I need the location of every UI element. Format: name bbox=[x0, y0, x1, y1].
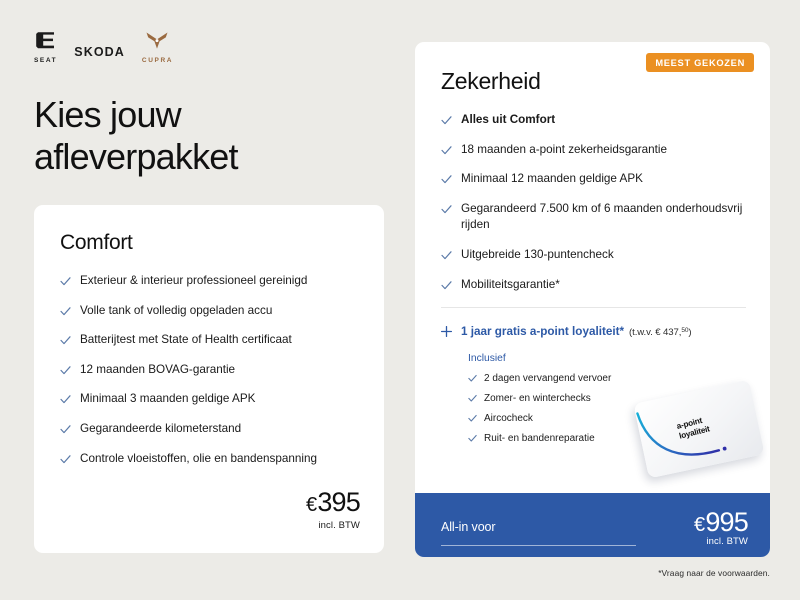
section-divider bbox=[441, 307, 746, 308]
check-icon bbox=[468, 414, 477, 423]
list-item-label: Exterieur & interieur professioneel gere… bbox=[80, 273, 360, 290]
loyalty-value-suffix: ) bbox=[688, 327, 691, 338]
check-icon bbox=[60, 454, 71, 465]
list-item: Minimaal 12 maanden geldige APK bbox=[441, 171, 748, 188]
skoda-logo-wordmark: SKODA bbox=[74, 45, 125, 59]
check-icon bbox=[60, 365, 71, 376]
cupra-logo-icon bbox=[145, 31, 169, 55]
page-title: Kies jouw afleverpakket bbox=[34, 94, 382, 179]
list-item-label: Ruit- en bandenreparatie bbox=[484, 432, 595, 445]
check-icon bbox=[60, 306, 71, 317]
cupra-logo-wordmark: CUPRA bbox=[142, 57, 173, 64]
status-badge: MEEST GEKOZEN bbox=[646, 53, 754, 72]
loyalty-headline: 1 jaar gratis a-point loyaliteit*(t.w.v.… bbox=[461, 322, 691, 340]
list-item: Batterijtest met State of Health certifi… bbox=[60, 332, 360, 349]
footer-row: All-in voor €995 bbox=[441, 493, 748, 536]
check-icon bbox=[441, 145, 452, 156]
brand-logo-row: SEAT SKODA CUPRA bbox=[34, 30, 382, 64]
zekerheid-price-note: incl. BTW bbox=[706, 536, 748, 547]
loyalty-value: (t.w.v. € 437,50) bbox=[629, 327, 691, 338]
check-icon bbox=[441, 204, 452, 215]
zekerheid-body: Zekerheid Alles uit Comfort 18 maanden a… bbox=[415, 42, 770, 445]
list-item-label: 2 dagen vervangend vervoer bbox=[484, 372, 611, 385]
check-icon bbox=[441, 115, 452, 126]
check-icon bbox=[60, 424, 71, 435]
seat-logo-wordmark: SEAT bbox=[34, 57, 57, 64]
list-item-label: Alles uit Comfort bbox=[461, 112, 748, 129]
page-title-line2: afleverpakket bbox=[34, 136, 238, 177]
currency-symbol: € bbox=[694, 514, 704, 536]
list-item-label: Aircocheck bbox=[484, 412, 533, 425]
list-item-label: Zomer- en winterchecks bbox=[484, 392, 591, 405]
check-icon bbox=[468, 374, 477, 383]
list-item-label: Gegarandeerde kilometerstand bbox=[80, 421, 360, 438]
plus-icon bbox=[441, 324, 452, 337]
list-item-label: Gegarandeerd 7.500 km of 6 maanden onder… bbox=[461, 201, 748, 234]
list-item: 2 dagen vervangend vervoer bbox=[468, 372, 748, 385]
comfort-card-title: Comfort bbox=[60, 231, 360, 255]
check-icon bbox=[60, 276, 71, 287]
list-item: Mobiliteitsgarantie* bbox=[441, 277, 748, 294]
page-title-line1: Kies jouw bbox=[34, 94, 181, 135]
list-item: Exterieur & interieur professioneel gere… bbox=[60, 273, 360, 290]
list-item: Gegarandeerde kilometerstand bbox=[60, 421, 360, 438]
package-card-zekerheid[interactable]: MEEST GEKOZEN Zekerheid Alles uit Comfor… bbox=[415, 42, 770, 557]
list-item: Alles uit Comfort bbox=[441, 112, 748, 129]
brand-seat: SEAT bbox=[34, 31, 57, 64]
list-item-label: Uitgebreide 130-puntencheck bbox=[461, 247, 748, 264]
list-item: 18 maanden a-point zekerheidsgarantie bbox=[441, 142, 748, 159]
comfort-feature-list: Exterieur & interieur professioneel gere… bbox=[60, 273, 360, 467]
list-item-label: Volle tank of volledig opgeladen accu bbox=[80, 303, 360, 320]
footer-rule bbox=[441, 545, 636, 546]
list-item: 12 maanden BOVAG-garantie bbox=[60, 362, 360, 379]
left-column: SEAT SKODA CUPRA Kies jouw afleverpakket… bbox=[0, 0, 400, 600]
list-item: Gegarandeerd 7.500 km of 6 maanden onder… bbox=[441, 201, 748, 234]
list-item: Minimaal 3 maanden geldige APK bbox=[60, 391, 360, 408]
zekerheid-price-footer: All-in voor €995 incl. BTW bbox=[415, 493, 770, 557]
comfort-price: €395 bbox=[306, 489, 360, 516]
list-item-label: Mobiliteitsgarantie* bbox=[461, 277, 748, 294]
check-icon bbox=[441, 174, 452, 185]
check-icon bbox=[468, 394, 477, 403]
list-item: Volle tank of volledig opgeladen accu bbox=[60, 303, 360, 320]
comfort-price-note: incl. BTW bbox=[306, 520, 360, 531]
check-icon bbox=[60, 394, 71, 405]
loyalty-title: 1 jaar gratis a-point loyaliteit* bbox=[461, 325, 624, 338]
loyalty-value-prefix: (t.w.v. € 437, bbox=[629, 327, 681, 338]
loyalty-headline-row: 1 jaar gratis a-point loyaliteit*(t.w.v.… bbox=[441, 322, 748, 340]
brand-cupra: CUPRA bbox=[142, 31, 173, 64]
check-icon bbox=[60, 335, 71, 346]
zekerheid-price: €995 bbox=[694, 509, 748, 536]
check-icon bbox=[441, 250, 452, 261]
check-icon bbox=[441, 280, 452, 291]
zekerheid-feature-list: Alles uit Comfort 18 maanden a-point zek… bbox=[441, 112, 748, 293]
inclusief-label: Inclusief bbox=[468, 353, 748, 364]
list-item: Controle vloeistoffen, olie en bandenspa… bbox=[60, 451, 360, 468]
disclaimer-text: *Vraag naar de voorwaarden. bbox=[658, 568, 770, 578]
package-card-comfort[interactable]: Comfort Exterieur & interieur profession… bbox=[34, 205, 384, 553]
list-item-label: Minimaal 12 maanden geldige APK bbox=[461, 171, 748, 188]
zekerheid-card-title: Zekerheid bbox=[441, 68, 748, 95]
list-item-label: 18 maanden a-point zekerheidsgarantie bbox=[461, 142, 748, 159]
allin-label: All-in voor bbox=[441, 520, 495, 534]
list-item-label: Controle vloeistoffen, olie en bandenspa… bbox=[80, 451, 360, 468]
brand-skoda: SKODA bbox=[74, 45, 125, 64]
comfort-price-block: €395 incl. BTW bbox=[306, 489, 360, 531]
seat-logo-icon bbox=[35, 31, 57, 55]
comfort-price-value: 395 bbox=[317, 487, 360, 517]
list-item-label: 12 maanden BOVAG-garantie bbox=[80, 362, 360, 379]
list-item-label: Batterijtest met State of Health certifi… bbox=[80, 332, 360, 349]
currency-symbol: € bbox=[306, 494, 316, 516]
list-item: Uitgebreide 130-puntencheck bbox=[441, 247, 748, 264]
check-icon bbox=[468, 434, 477, 443]
zekerheid-price-value: 995 bbox=[705, 507, 748, 537]
list-item-label: Minimaal 3 maanden geldige APK bbox=[80, 391, 360, 408]
